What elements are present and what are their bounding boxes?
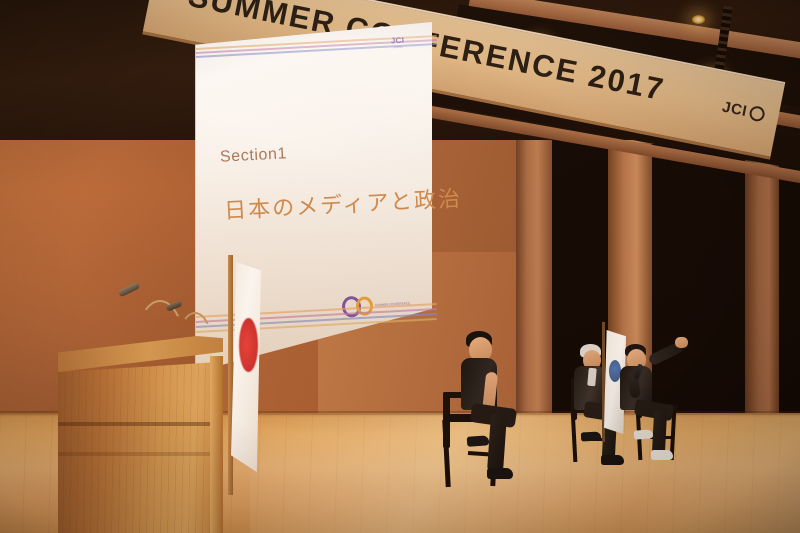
podium-trim-upper [58,422,218,426]
column-a [516,118,552,418]
projection-screen: Section1 日本のメディアと政治 JCI JAPAN SUMMER CON… [176,22,432,372]
podium-trim-lower [58,452,218,456]
stage-light-4 [692,15,705,24]
panelist-center-shoe-back [581,431,601,441]
panelist-left-shoe-back [467,435,490,447]
panelist-right-sneaker-back [634,429,654,439]
banner-jci-logo-text: JCI [721,98,749,120]
japan-flag-disc [239,318,258,372]
stage-floor-reflection [250,413,800,533]
panelist-right-shin [652,410,667,456]
panelist-center-shoe-front [601,455,624,465]
japan-flag-pole [228,255,233,495]
panelist-center-shirt [587,368,597,387]
banner-jci-logo: JCI [721,98,766,123]
panelist-right-sneaker-front [651,450,673,460]
speaker-podium [58,336,223,533]
podium-wood-grain [58,362,218,533]
panelist-left-shoe-front [487,468,513,479]
stage-photo: SUMMER CONFERENCE 2017 JCI Section1 日本のメ… [0,0,800,533]
podium-side-edge [210,356,223,533]
banner-jci-logo-mark [748,105,766,123]
panelist-right-hand [675,337,688,348]
